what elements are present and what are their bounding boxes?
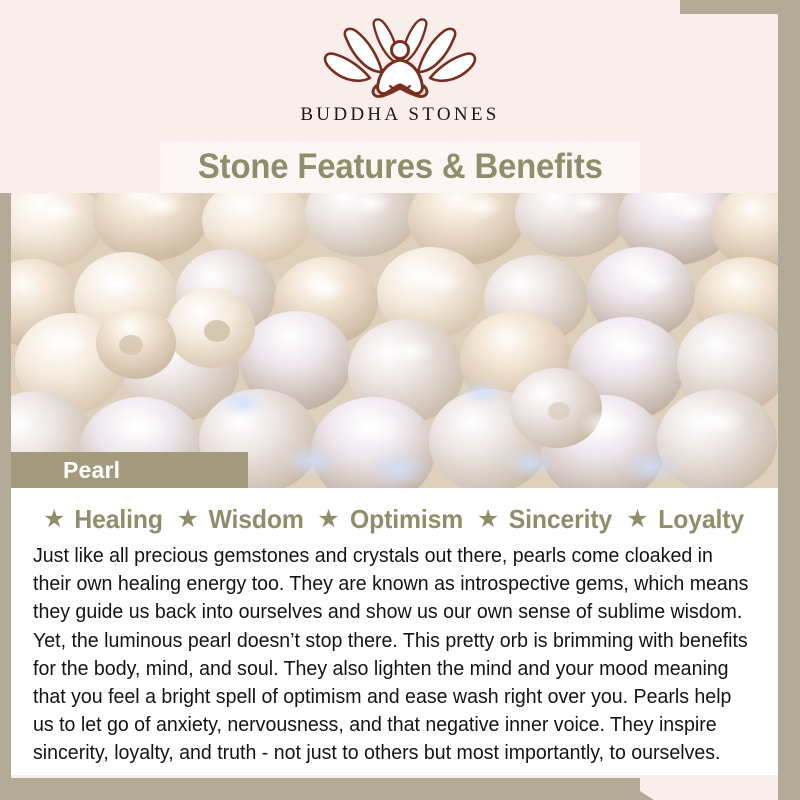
keyword-label: Healing <box>75 504 164 535</box>
infographic-page: BUDDHA STONES Stone Features & Benefits <box>0 0 800 800</box>
keyword-healing: ★ Healing <box>43 504 166 535</box>
keyword-optimism: ★ Optimism <box>306 504 466 535</box>
benefit-keywords: ★ Healing ★ Wisdom ★ Optimism ★ Sincerit… <box>33 498 756 540</box>
stone-description: Just like all precious gemstones and cry… <box>33 542 756 768</box>
star-icon: ★ <box>43 507 65 532</box>
keyword-label: Loyalty <box>658 504 744 535</box>
brand-wordmark: BUDDHA STONES <box>300 104 499 126</box>
stone-name-bar: Pearl <box>11 452 248 488</box>
star-icon: ★ <box>177 507 199 532</box>
keyword-label: Optimism <box>350 504 463 535</box>
star-icon: ★ <box>477 507 499 532</box>
keyword-wisdom: ★ Wisdom <box>166 504 307 535</box>
keyword-label: Sincerity <box>509 504 612 535</box>
keyword-sincerity: ★ Sincerity <box>466 504 615 535</box>
stone-name: Pearl <box>63 457 120 484</box>
content-panel: ★ Healing ★ Wisdom ★ Optimism ★ Sincerit… <box>11 488 778 775</box>
page-title: Stone Features & Benefits <box>198 147 603 187</box>
frame-accent-left <box>0 193 11 787</box>
star-icon: ★ <box>317 507 339 532</box>
keyword-label: Wisdom <box>209 504 304 535</box>
stone-photo <box>11 193 778 488</box>
keyword-loyalty: ★ Loyalty <box>615 504 746 535</box>
brand-header: BUDDHA STONES <box>0 0 800 140</box>
star-icon: ★ <box>626 507 648 532</box>
frame-accent-bottom <box>0 778 640 800</box>
title-banner: Stone Features & Benefits <box>160 141 640 193</box>
lotus-meditation-icon <box>316 14 484 102</box>
